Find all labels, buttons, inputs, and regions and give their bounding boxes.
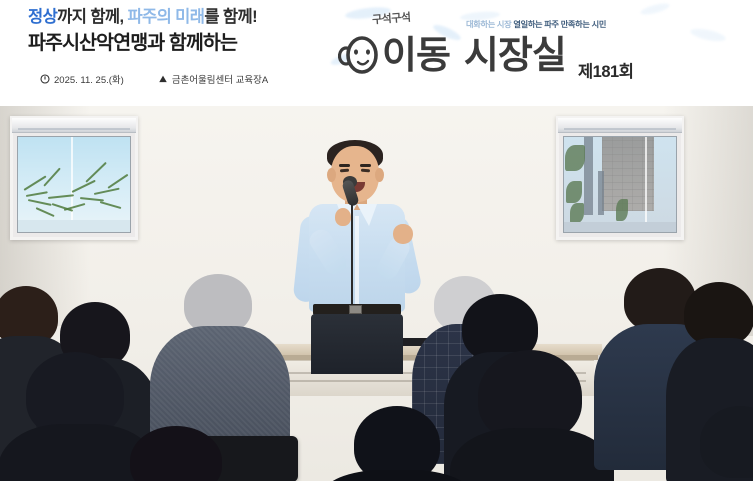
banner-title-accent-soft: 파주의 미래 <box>127 8 204 26</box>
speaker-right-hand <box>393 224 413 244</box>
pillar-view <box>584 137 593 215</box>
banner-venue-item: 금촌어울림센터 교육장A <box>158 72 268 86</box>
banner-title-plain-2: 를 함께! <box>204 8 257 26</box>
edition-number: 제181회 <box>578 58 633 82</box>
brush-splash-decoration <box>639 1 670 16</box>
smiling-face-icon <box>338 34 382 76</box>
foliage <box>570 203 584 223</box>
banner-date-item: 2025. 11. 25.(화) <box>40 72 124 86</box>
speaker-eye <box>361 169 370 172</box>
mountain-icon <box>158 74 168 84</box>
right-window <box>556 116 684 240</box>
logo-tagline-soft: 대화하는 시장 <box>466 20 513 29</box>
pillar-view <box>598 171 604 215</box>
window-sill <box>564 222 676 232</box>
clock-icon <box>40 74 50 84</box>
speaker-brow <box>360 164 371 167</box>
banner-meta-row: 2025. 11. 25.(화) 금촌어울림센터 교육장A <box>40 72 268 86</box>
window-glass <box>563 136 677 233</box>
foliage <box>616 199 628 221</box>
logo-main-text: 이동시장실 <box>338 34 566 78</box>
foliage <box>566 181 582 203</box>
speaker-trousers <box>311 314 403 374</box>
shirt-placket <box>355 216 359 308</box>
left-window <box>10 116 138 240</box>
audience-head <box>684 282 753 346</box>
banner-title-accent-strong: 정상 <box>28 8 57 26</box>
logo-word-idong: 이동 <box>382 35 450 77</box>
banner-date-text: 2025. 11. 25.(화) <box>54 72 124 86</box>
event-banner: 정상까지 함께, 파주의 미래를 함께! 파주시산악연맹과 함께하는 2025.… <box>0 0 753 106</box>
logo-word-sijangsil: 시장실 <box>464 35 566 77</box>
logo-tagline: 대화하는 시장 열일하는 파주 만족하는 시민 <box>466 18 606 30</box>
speaker-ear <box>327 168 336 182</box>
banner-title-line-1: 정상까지 함께, 파주의 미래를 함께! <box>28 6 368 28</box>
event-photograph: 참 밝고 맑은 세계 불탑뉴스신문사 www.bultopnews.co.kr <box>0 106 753 481</box>
speaker-left-hand <box>335 208 351 226</box>
window-blind <box>12 118 136 133</box>
logo-subtitle: 구석구석 <box>371 9 411 28</box>
foliage <box>565 145 585 171</box>
speaker-brow <box>339 164 350 167</box>
window-mullion <box>71 137 73 232</box>
speaker <box>287 136 427 366</box>
audience-head-grey-hair <box>184 274 252 334</box>
microphone-cord <box>351 204 353 312</box>
banner-title-block: 정상까지 함께, 파주의 미래를 함께! 파주시산악연맹과 함께하는 <box>28 6 368 57</box>
window-mullion <box>645 137 647 232</box>
banner-venue-text: 금촌어울림센터 교육장A <box>172 72 268 86</box>
window-glass <box>17 136 131 233</box>
banner-title-plain-1: 까지 함께, <box>57 8 127 26</box>
speaker-belt-buckle <box>349 305 362 314</box>
news-photo-screenshot: 정상까지 함께, 파주의 미래를 함께! 파주시산악연맹과 함께하는 2025.… <box>0 0 753 481</box>
window-blind <box>558 118 682 133</box>
brush-splash-decoration <box>689 26 726 43</box>
speaker-ear <box>375 168 384 182</box>
banner-title-line-2: 파주시산악연맹과 함께하는 <box>28 30 368 57</box>
logo-tagline-dark: 열일하는 파주 만족하는 시민 <box>513 20 606 29</box>
event-logo: 구석구석 대화하는 시장 열일하는 파주 만족하는 시민 이동시장실 <box>338 4 608 100</box>
window-sill <box>18 220 130 232</box>
